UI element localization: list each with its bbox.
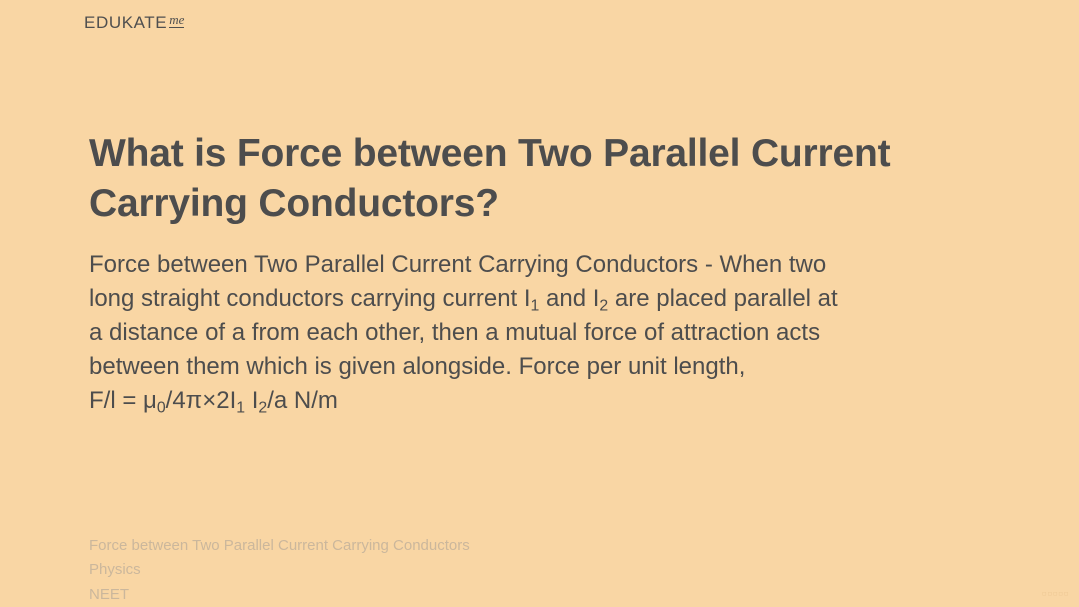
body-formula: F/l = μ0/4π×2I1 I2/a N/m: [89, 384, 989, 418]
body-line-2: long straight conductors carrying curren…: [89, 282, 989, 316]
formula-part-d: /a N/m: [267, 387, 338, 414]
brand-logo[interactable]: EDUKATE me: [84, 14, 184, 31]
footer-exam: NEET: [89, 583, 470, 607]
slide-body: Force between Two Parallel Current Carry…: [89, 248, 989, 418]
brand-logo-main: EDUKATE: [84, 14, 167, 31]
body-line-3: a distance of a from each other, then a …: [89, 316, 989, 350]
footer-topic: Force between Two Parallel Current Carry…: [89, 534, 470, 558]
formula-part-c: I: [245, 387, 258, 414]
formula-sub-1: 1: [236, 400, 245, 417]
body-line-2-part-c: are placed parallel at: [608, 285, 837, 312]
body-line-1: Force between Two Parallel Current Carry…: [89, 248, 989, 282]
formula-part-a: F/l = μ: [89, 387, 157, 414]
body-line-4: between them which is given alongside. F…: [89, 350, 989, 384]
footer-subject: Physics: [89, 558, 470, 582]
slide-title-line-2: Carrying Conductors?: [89, 179, 989, 229]
slide-footer: Force between Two Parallel Current Carry…: [89, 534, 470, 607]
brand-logo-sub: me: [169, 13, 184, 28]
corner-watermark: ▫▫▫▫▫: [1042, 585, 1069, 601]
body-line-2-part-a: long straight conductors carrying curren…: [89, 285, 531, 312]
formula-sub-0: 0: [157, 400, 166, 417]
formula-sub-2: 2: [258, 400, 267, 417]
body-line-2-part-b: and I: [539, 285, 599, 312]
slide-title-line-1: What is Force between Two Parallel Curre…: [89, 129, 989, 179]
slide-canvas: EDUKATE me What is Force between Two Par…: [0, 0, 1079, 607]
slide-title: What is Force between Two Parallel Curre…: [89, 129, 989, 229]
body-line-2-sub-2: 2: [599, 298, 608, 315]
formula-part-b: /4π×2I: [166, 387, 237, 414]
